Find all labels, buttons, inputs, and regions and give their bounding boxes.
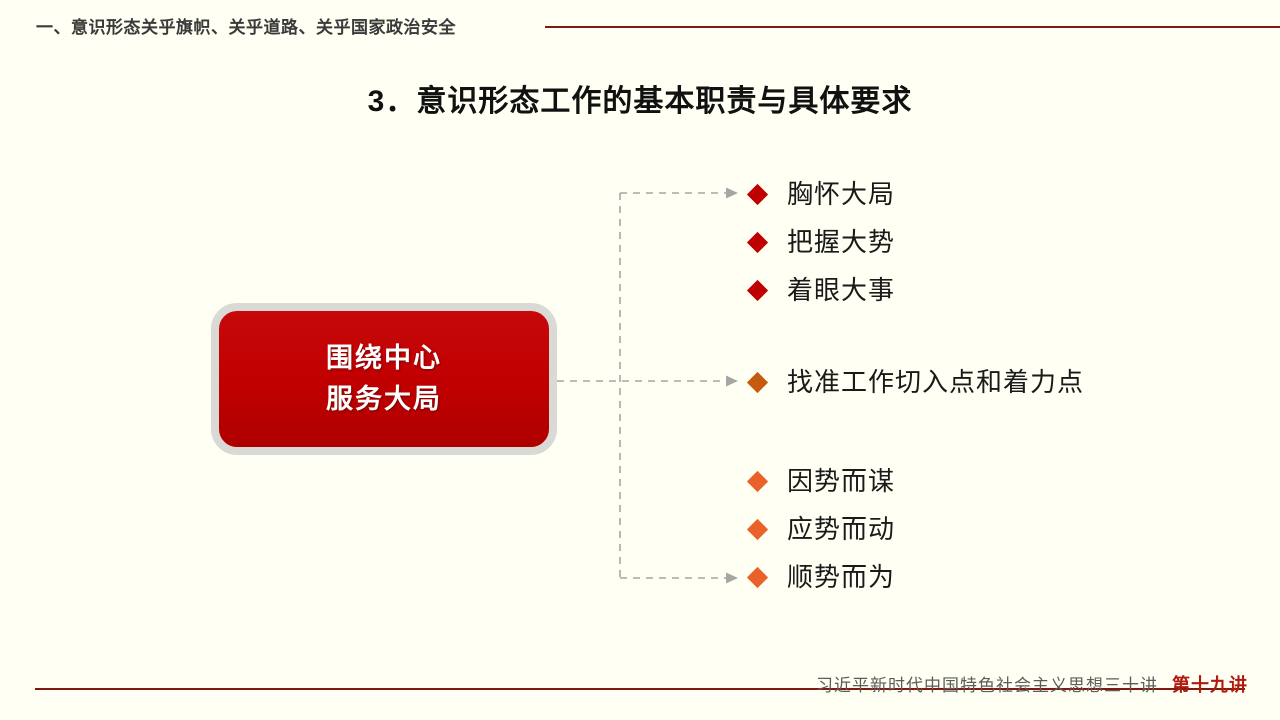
- bullet-group-b: 找准工作切入点和着力点: [748, 358, 1084, 406]
- arrow-head-bottom: [726, 573, 738, 584]
- center-box-line-1: 围绕中心: [326, 345, 442, 372]
- diamond-bullet-icon: [747, 518, 768, 539]
- center-concept-box[interactable]: 围绕中心 服务大局: [211, 303, 557, 455]
- slide-header: 一、意识形态关乎旗帜、关乎道路、关乎国家政治安全: [0, 0, 1280, 46]
- list-item[interactable]: 应势而动: [748, 505, 895, 553]
- list-item[interactable]: 因势而谋: [748, 457, 895, 505]
- footer-series-title: 习近平新时代中国特色社会主义思想三十讲: [816, 671, 1158, 696]
- diamond-bullet-icon: [747, 183, 768, 204]
- diamond-bullet-icon: [747, 279, 768, 300]
- bullet-group-c: 因势而谋 应势而动 顺势而为: [748, 457, 895, 601]
- diamond-bullet-icon: [747, 566, 768, 587]
- list-item[interactable]: 着眼大事: [748, 266, 895, 314]
- slide-footer: 习近平新时代中国特色社会主义思想三十讲 第十九讲: [816, 671, 1248, 697]
- page-title: 3．意识形态工作的基本职责与具体要求: [0, 76, 1280, 120]
- bullet-label: 找准工作切入点和着力点: [787, 369, 1084, 395]
- bullet-label: 顺势而为: [787, 564, 895, 590]
- footer-lesson-number: 第十九讲: [1172, 671, 1248, 697]
- bullet-label: 应势而动: [787, 516, 895, 542]
- bullet-label: 胸怀大局: [787, 181, 895, 207]
- list-item[interactable]: 找准工作切入点和着力点: [748, 358, 1084, 406]
- slide-canvas: 一、意识形态关乎旗帜、关乎道路、关乎国家政治安全 3．意识形态工作的基本职责与具…: [0, 0, 1280, 720]
- arrow-head-middle: [726, 376, 738, 387]
- bullet-group-a: 胸怀大局 把握大势 着眼大事: [748, 170, 895, 314]
- list-item[interactable]: 把握大势: [748, 218, 895, 266]
- diamond-bullet-icon: [747, 371, 768, 392]
- center-box-line-2: 服务大局: [326, 386, 442, 413]
- diamond-bullet-icon: [747, 231, 768, 252]
- header-section-title: 一、意识形态关乎旗帜、关乎道路、关乎国家政治安全: [36, 13, 456, 38]
- bullet-label: 把握大势: [787, 229, 895, 255]
- header-divider-line: [545, 26, 1280, 28]
- arrow-head-top: [726, 188, 738, 199]
- diamond-bullet-icon: [747, 470, 768, 491]
- list-item[interactable]: 顺势而为: [748, 553, 895, 601]
- bullet-label: 因势而谋: [787, 468, 895, 494]
- bullet-label: 着眼大事: [787, 277, 895, 303]
- list-item[interactable]: 胸怀大局: [748, 170, 895, 218]
